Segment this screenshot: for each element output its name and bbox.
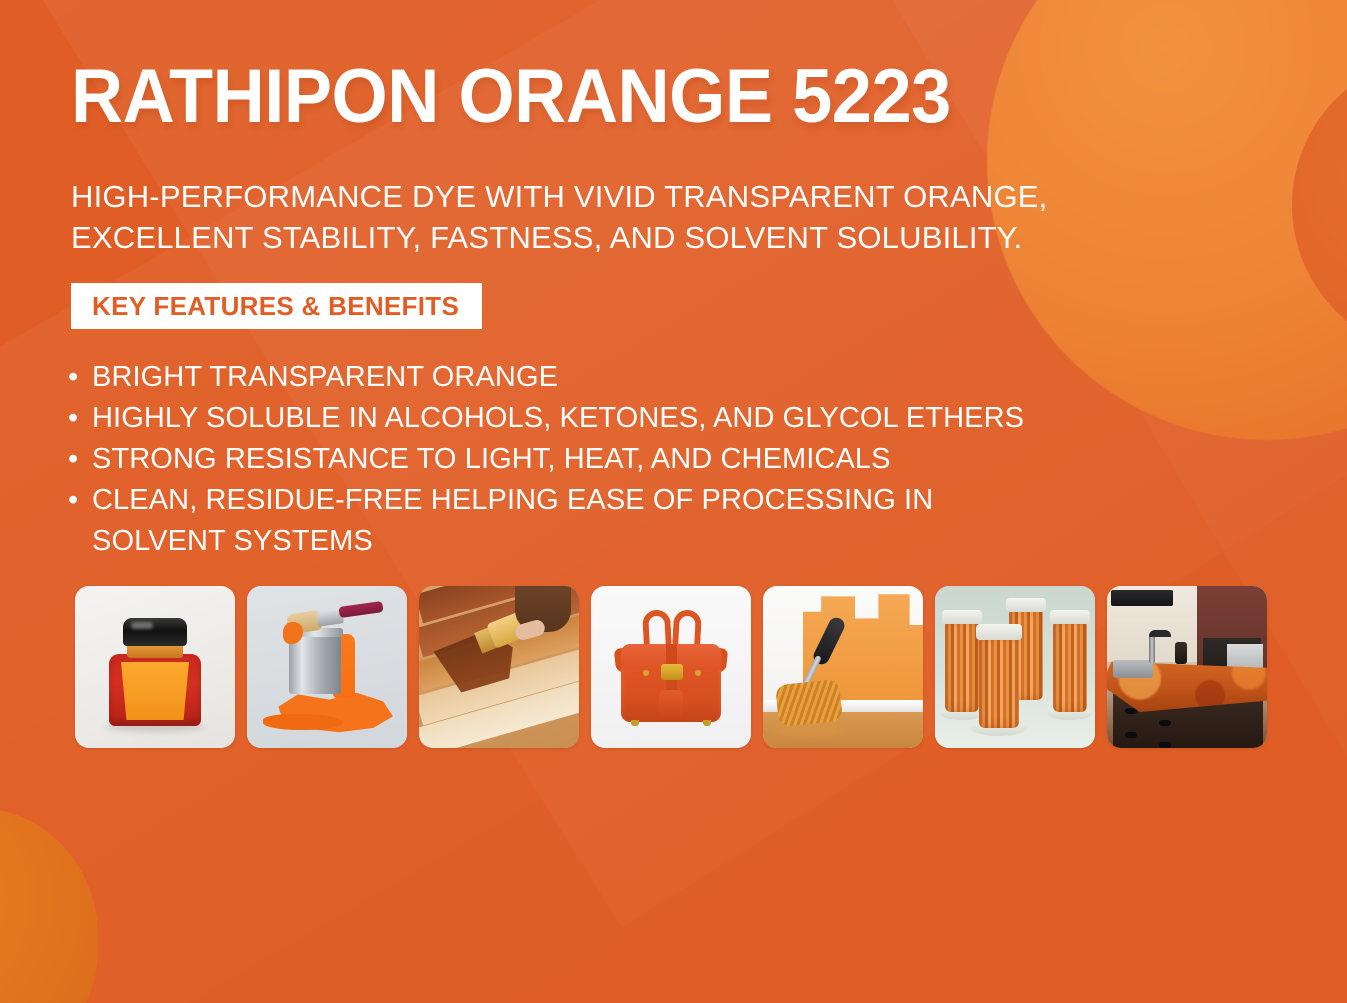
cabinet-knob-icon — [1125, 708, 1137, 714]
handbag-foot-icon — [703, 720, 711, 726]
ink-bottle-illustration — [75, 586, 235, 748]
wood-stain-illustration — [419, 586, 579, 748]
range-hood-icon — [1111, 590, 1173, 606]
key-features-badge-label: KEY FEATURES & BENEFITS — [71, 291, 459, 322]
thread-spools-illustration — [935, 586, 1095, 748]
thread-spools-photo — [935, 586, 1095, 748]
paint-roller-illustration — [763, 586, 923, 748]
product-banner: RATHIPON ORANGE 5223 HIGH-PERFORMANCE DY… — [0, 0, 1347, 1003]
application-image-strip — [75, 586, 1267, 748]
page-title: RATHIPON ORANGE 5223 — [71, 57, 951, 137]
feature-item: STRONG RESISTANCE TO LIGHT, HEAT, AND CH… — [68, 439, 1218, 480]
key-features-badge: KEY FEATURES & BENEFITS — [71, 283, 482, 329]
sink-icon — [1113, 660, 1153, 678]
subtitle-line-1: HIGH-PERFORMANCE DYE WITH VIVID TRANSPAR… — [71, 176, 1171, 217]
spool-cap-icon — [976, 624, 1022, 640]
blob-bottom-left-icon — [0, 808, 98, 1003]
brush-handle-icon — [338, 601, 383, 618]
handbag-illustration — [591, 586, 751, 748]
handbag-foot-icon — [631, 720, 639, 726]
thread-spool-icon — [979, 636, 1019, 728]
bottle-ink-icon — [121, 662, 189, 720]
feature-item: HIGHLY SOLUBLE IN ALCOHOLS, KETONES, AND… — [68, 398, 1218, 439]
paint-splat-secondary-icon — [263, 714, 343, 730]
wood-stain-photo — [419, 586, 579, 748]
thread-spool-icon — [1053, 620, 1087, 712]
cabinet-knob-icon — [1125, 732, 1137, 738]
thread-spool-icon — [945, 620, 979, 712]
paint-can-illustration — [247, 586, 407, 748]
granite-countertop-photo — [1107, 586, 1267, 748]
subtitle-line-2: EXCELLENT STABILITY, FASTNESS, AND SOLVE… — [71, 217, 1171, 258]
leather-handbag-photo — [591, 586, 751, 748]
faucet-icon — [1149, 634, 1155, 664]
cabinet-knob-icon — [1159, 720, 1171, 726]
page-subtitle: HIGH-PERFORMANCE DYE WITH VIVID TRANSPAR… — [71, 176, 1171, 258]
soap-dispenser-icon — [1175, 642, 1187, 664]
kitchen-counter-illustration — [1107, 586, 1267, 748]
ring-inner-top-right-icon — [1292, 55, 1347, 355]
spool-cap-icon — [1006, 598, 1046, 612]
feature-item: BRIGHT TRANSPARENT ORANGE — [68, 357, 1218, 398]
ink-bottle-photo — [75, 586, 235, 748]
spool-cap-icon — [1050, 610, 1090, 624]
handbag-stud-icon — [643, 670, 649, 676]
faucet-spout-icon — [1149, 630, 1171, 637]
handbag-stud-icon — [695, 670, 701, 676]
spool-cap-icon — [942, 610, 982, 624]
paint-can-brush-photo — [247, 586, 407, 748]
roller-drum-icon — [775, 679, 843, 727]
handbag-lock-icon — [661, 664, 683, 680]
handbag-clochette-icon — [659, 690, 683, 718]
bottle-cap-icon — [123, 618, 187, 646]
cabinet-knob-icon — [1159, 742, 1171, 748]
features-list: BRIGHT TRANSPARENT ORANGE HIGHLY SOLUBLE… — [68, 357, 1218, 562]
feature-item: CLEAN, RESIDUE-FREE HELPING EASE OF PROC… — [68, 480, 1218, 562]
paint-roller-photo — [763, 586, 923, 748]
